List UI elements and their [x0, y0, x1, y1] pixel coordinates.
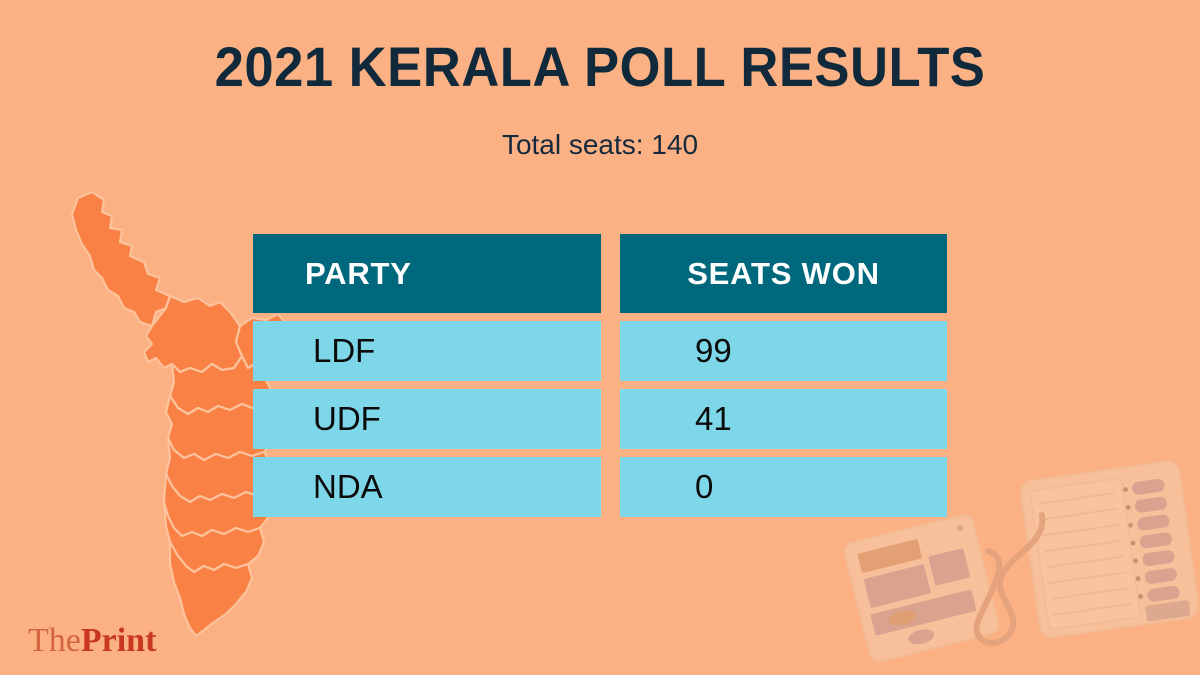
cell-party-udf: UDF	[253, 389, 601, 449]
page-title: 2021 KERALA POLL RESULTS	[36, 36, 1164, 98]
table-row: LDF 99	[253, 321, 947, 381]
party-name-udf: UDF	[313, 400, 381, 438]
poll-results-table: PARTY SEATS WON LDF 99 UDF 41 NDA	[253, 234, 947, 517]
seats-value-udf: 41	[695, 400, 732, 438]
column-header-party: PARTY	[253, 234, 601, 313]
table-header-row: PARTY SEATS WON	[253, 234, 947, 313]
column-header-party-label: PARTY	[305, 256, 412, 292]
infographic-canvas: 2021 KERALA POLL RESULTS Total seats: 14…	[0, 0, 1200, 675]
column-header-seats-won: SEATS WON	[620, 234, 947, 313]
party-name-ldf: LDF	[313, 332, 375, 370]
seats-value-ldf: 99	[695, 332, 732, 370]
party-name-nda: NDA	[313, 468, 383, 506]
logo-the-text: The	[28, 622, 81, 659]
theprint-logo: ThePrint	[28, 622, 156, 660]
column-header-seats-won-label: SEATS WON	[687, 256, 880, 292]
table-row: UDF 41	[253, 389, 947, 449]
cell-seats-ldf: 99	[620, 321, 947, 381]
cell-party-nda: NDA	[253, 457, 601, 517]
cell-seats-nda: 0	[620, 457, 947, 517]
table-row: NDA 0	[253, 457, 947, 517]
logo-print-text: Print	[81, 622, 157, 659]
seats-value-nda: 0	[695, 468, 713, 506]
page-subtitle: Total seats: 140	[0, 128, 1200, 162]
cell-party-ldf: LDF	[253, 321, 601, 381]
cell-seats-udf: 41	[620, 389, 947, 449]
